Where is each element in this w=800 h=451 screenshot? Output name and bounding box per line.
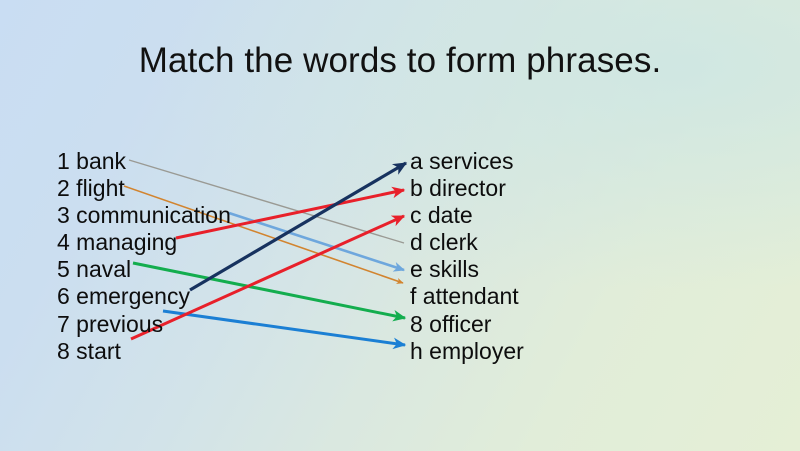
connector-communication-to-skills[interactable] (229, 213, 404, 270)
right-item-e[interactable]: e skills (410, 256, 524, 283)
right-item-a[interactable]: a services (410, 148, 524, 175)
right-item-d[interactable]: d clerk (410, 229, 524, 256)
left-item-5[interactable]: 5 naval (57, 256, 231, 283)
left-item-4[interactable]: 4 managing (57, 229, 231, 256)
right-column: a services b director c date d clerk e s… (410, 148, 524, 365)
left-item-6[interactable]: 6 emergency (57, 283, 231, 310)
left-column: 1 bank 2 flight 3 communication 4 managi… (57, 148, 231, 365)
left-item-2[interactable]: 2 flight (57, 175, 231, 202)
right-item-b[interactable]: b director (410, 175, 524, 202)
right-item-f[interactable]: f attendant (410, 283, 524, 310)
right-item-c[interactable]: c date (410, 202, 524, 229)
left-item-1[interactable]: 1 bank (57, 148, 231, 175)
page-title: Match the words to form phrases. (0, 40, 800, 82)
right-item-h[interactable]: h employer (410, 338, 524, 365)
left-item-3[interactable]: 3 communication (57, 202, 231, 229)
left-item-7[interactable]: 7 previous (57, 311, 231, 338)
slide-canvas: Match the words to form phrases. 1 bank … (0, 0, 800, 451)
left-item-8[interactable]: 8 start (57, 338, 231, 365)
right-item-g[interactable]: 8 officer (410, 311, 524, 338)
